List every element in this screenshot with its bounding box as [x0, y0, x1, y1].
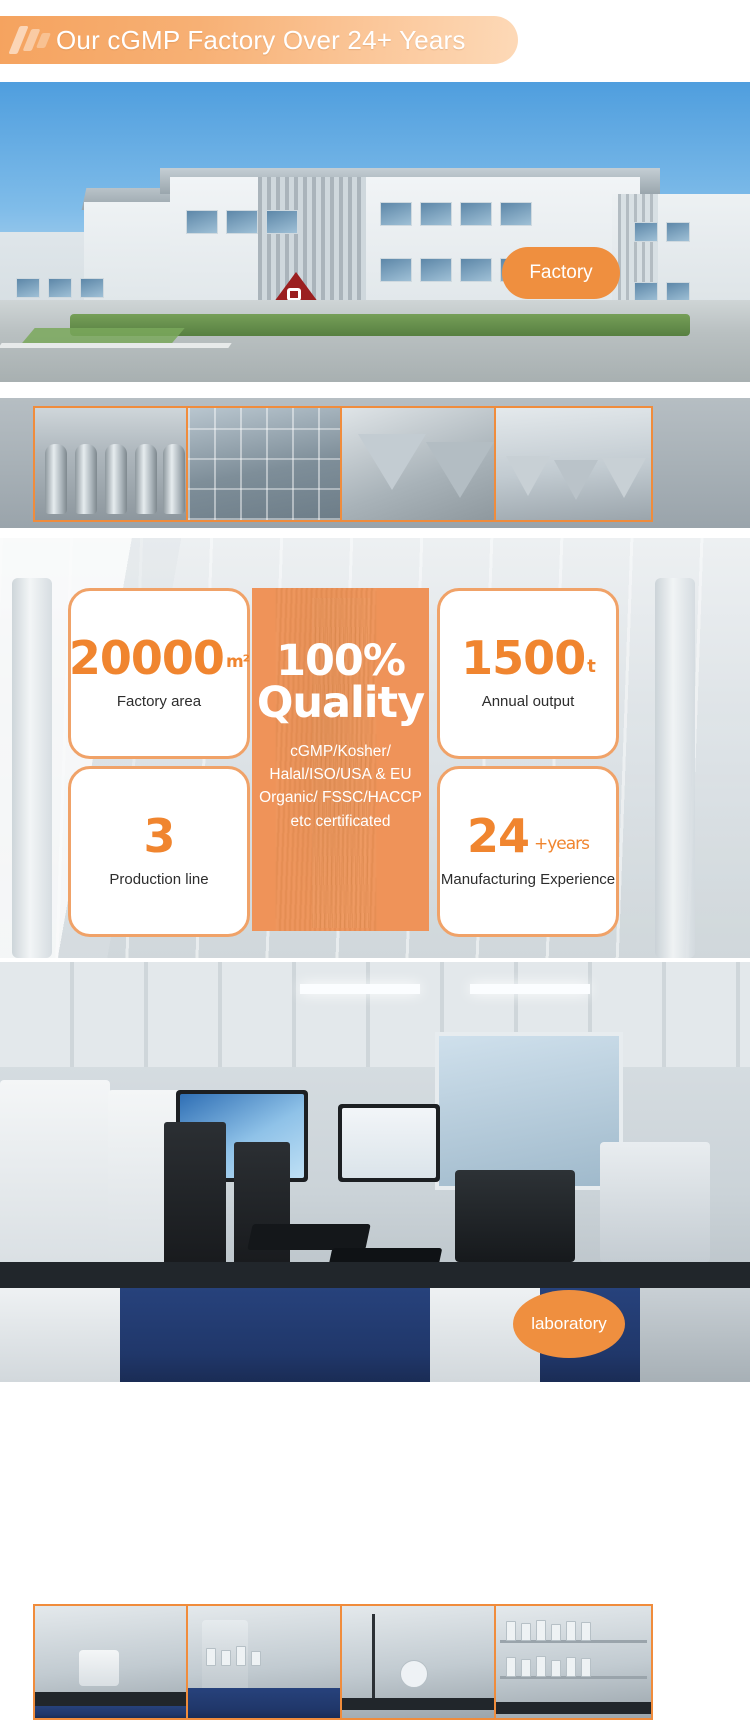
pillar-left: [12, 578, 52, 958]
factory-thumbnail-1[interactable]: [33, 406, 192, 522]
stat-value: 3: [143, 813, 174, 859]
distillation-rig-scene: [342, 1606, 497, 1718]
laboratory-badge: laboratory: [513, 1290, 625, 1358]
extraction-line-scene: [496, 408, 651, 520]
factory-thumbnail-strip: [0, 398, 750, 528]
tank-scene: [35, 408, 190, 520]
certification-list: cGMP/Kosher/ Halal/ISO/USA & EU Organic/…: [252, 740, 429, 833]
cabinet-right: [640, 1288, 750, 1382]
quality-headline-top: 100%: [276, 640, 405, 682]
reagent-cabinet-scene: [188, 1606, 343, 1718]
lab-benchtop: [0, 1262, 750, 1288]
stat-card-factory-area: 20000 m² Factory area: [68, 588, 250, 759]
page-title: Our cGMP Factory Over 24+ Years: [56, 25, 466, 56]
printer-unit: [455, 1170, 575, 1262]
window-row-2: [380, 202, 532, 226]
stat-card-experience: 24 +years Manufacturing Experience: [437, 766, 619, 937]
cabinet-white-left: [0, 1288, 120, 1382]
ceiling-panels: [0, 962, 750, 1067]
lab-thumbnail-4[interactable]: [494, 1604, 653, 1720]
pc-tower-1: [164, 1122, 226, 1274]
factory-hero-image: HONGDA: [0, 82, 750, 382]
window-row-right: [634, 222, 690, 242]
slash-decoration-icon: [0, 16, 56, 64]
analyzer-unit-1: [0, 1080, 110, 1270]
pc-tower-2: [234, 1142, 290, 1274]
stat-label: Annual output: [482, 693, 575, 712]
stat-label: Manufacturing Experience: [441, 871, 615, 890]
factory-thumbnail-3[interactable]: [340, 406, 499, 522]
stat-value: 24: [467, 813, 529, 859]
stat-card-annual-output: 1500 t Annual output: [437, 588, 619, 759]
conical-mixer-scene: [342, 408, 497, 520]
strip-light-1: [300, 984, 420, 994]
glass-facade-scene: [188, 408, 343, 520]
stat-unit: +years: [534, 836, 589, 859]
lab-window: [435, 1032, 623, 1190]
stat-value: 20000: [69, 635, 224, 681]
analysis-bench-scene: [35, 1606, 190, 1718]
stat-value-group: 24 +years: [467, 813, 589, 859]
stat-unit: m²: [226, 654, 249, 681]
monitor-secondary: [338, 1104, 440, 1182]
stat-value-group: 20000 m²: [69, 635, 249, 681]
stat-label: Production line: [109, 871, 208, 890]
lab-thumbnail-strip: [0, 1596, 750, 1726]
window-row-1: [186, 210, 298, 234]
monitor-screen-2: [342, 1108, 436, 1178]
window-row-left: [16, 278, 104, 298]
road-marking: [0, 343, 232, 348]
factory-badge: Factory: [502, 247, 620, 299]
glassware-shelf-scene: [496, 1606, 651, 1718]
lab-thumbnail-3[interactable]: [340, 1604, 499, 1720]
stat-value-group: 3: [143, 813, 174, 859]
stat-label: Factory area: [117, 693, 201, 712]
stat-value-group: 1500 t: [461, 635, 595, 681]
lab-thumbnail-1[interactable]: [33, 1604, 192, 1720]
stats-section: 20000 m² Factory area 3 Production line …: [0, 538, 750, 958]
balance-unit: [600, 1142, 710, 1262]
quality-headline-bottom: Quality: [257, 682, 424, 726]
stat-unit: t: [587, 658, 595, 681]
strip-light-2: [470, 984, 590, 994]
quality-panel: 100% Quality cGMP/Kosher/ Halal/ISO/USA …: [252, 588, 429, 931]
lab-thumbnail-2[interactable]: [186, 1604, 345, 1720]
stat-card-production-line: 3 Production line: [68, 766, 250, 937]
keyboard: [247, 1224, 371, 1250]
stat-value: 1500: [461, 635, 585, 681]
laboratory-image: [0, 962, 750, 1382]
factory-showcase-page: Our cGMP Factory Over 24+ Years: [0, 0, 750, 1730]
factory-thumbnail-2[interactable]: [186, 406, 345, 522]
pillar-right: [655, 578, 695, 958]
factory-thumbnail-4[interactable]: [494, 406, 653, 522]
window-row-right-2: [634, 282, 690, 302]
lawn-strip: [21, 328, 184, 344]
page-header-banner: Our cGMP Factory Over 24+ Years: [0, 16, 518, 64]
